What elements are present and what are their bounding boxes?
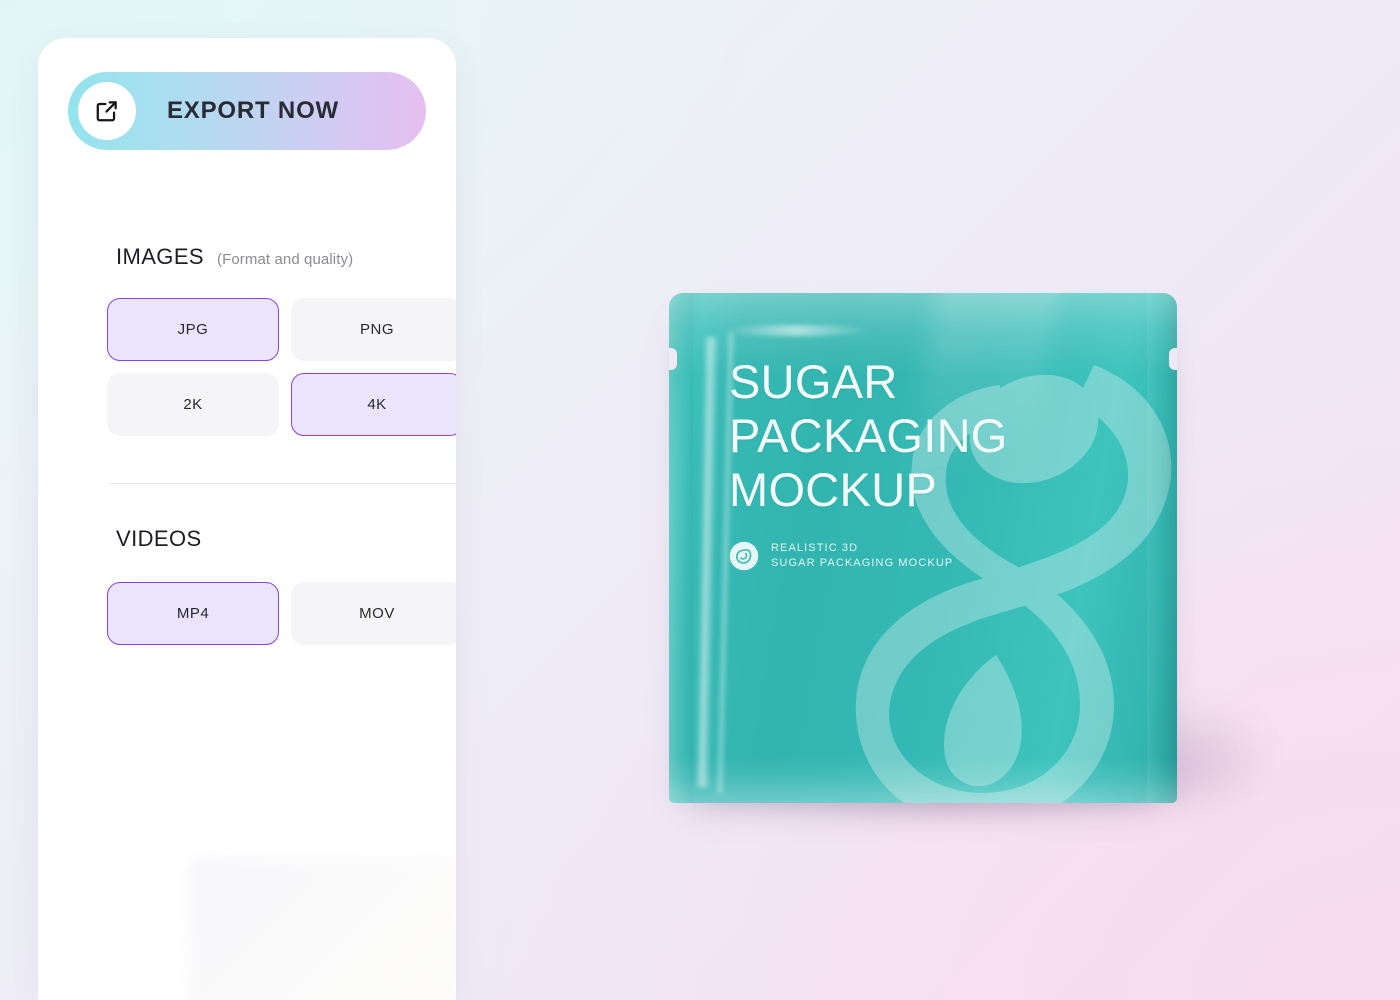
export-now-label: EXPORT NOW xyxy=(136,97,426,125)
external-link-icon xyxy=(78,82,136,140)
pouch-title-line-2: PACKAGING xyxy=(729,409,1089,463)
app-canvas: SUGAR PACKAGING MOCKUP REALISTIC 3D SUGA… xyxy=(0,0,1400,1000)
images-section-header: IMAGES (Format and quality) xyxy=(116,244,353,270)
chip-mov[interactable]: MOV xyxy=(291,582,456,645)
panel-placeholder-region xyxy=(188,858,456,1000)
pouch-title-line-3: MOCKUP xyxy=(729,463,1089,517)
chip-2k[interactable]: 2K xyxy=(107,373,279,436)
pouch-top-highlight xyxy=(721,325,871,336)
tear-notch-left xyxy=(669,348,677,370)
chip-jpg[interactable]: JPG xyxy=(107,298,279,361)
teardrop-badge-icon xyxy=(729,541,759,571)
tear-notch-right xyxy=(1169,348,1177,370)
pouch-subtitle-line-2: SUGAR PACKAGING MOCKUP xyxy=(771,556,953,571)
export-now-button[interactable]: EXPORT NOW xyxy=(68,72,426,150)
images-section-note: (Format and quality) xyxy=(217,251,353,268)
section-divider xyxy=(108,483,456,484)
mockup-scene: SUGAR PACKAGING MOCKUP REALISTIC 3D SUGA… xyxy=(455,0,1400,1000)
images-format-options: JPG PNG 2K 4K xyxy=(107,298,456,436)
pouch-subtitle-line-1: REALISTIC 3D xyxy=(771,541,953,556)
pouch-crease-primary xyxy=(695,337,720,787)
sugar-packaging-pouch[interactable]: SUGAR PACKAGING MOCKUP REALISTIC 3D SUGA… xyxy=(669,293,1177,803)
chip-4k[interactable]: 4K xyxy=(291,373,456,436)
export-settings-panel: EXPORT NOW IMAGES (Format and quality) J… xyxy=(38,38,456,1000)
videos-format-options: MP4 MOV xyxy=(107,582,456,645)
pouch-artwork-copy: SUGAR PACKAGING MOCKUP REALISTIC 3D SUGA… xyxy=(729,355,1089,571)
videos-section-header: VIDEOS xyxy=(116,526,215,552)
pouch-subtitle-lines: REALISTIC 3D SUGAR PACKAGING MOCKUP xyxy=(771,541,953,571)
pouch-subtitle-block: REALISTIC 3D SUGAR PACKAGING MOCKUP xyxy=(729,541,1089,571)
pouch-bottom-sheen xyxy=(669,757,1177,803)
chip-mp4[interactable]: MP4 xyxy=(107,582,279,645)
images-section-title: IMAGES xyxy=(116,244,204,270)
videos-section-title: VIDEOS xyxy=(116,526,202,552)
pouch-title-line-1: SUGAR xyxy=(729,355,1089,409)
chip-png[interactable]: PNG xyxy=(291,298,456,361)
